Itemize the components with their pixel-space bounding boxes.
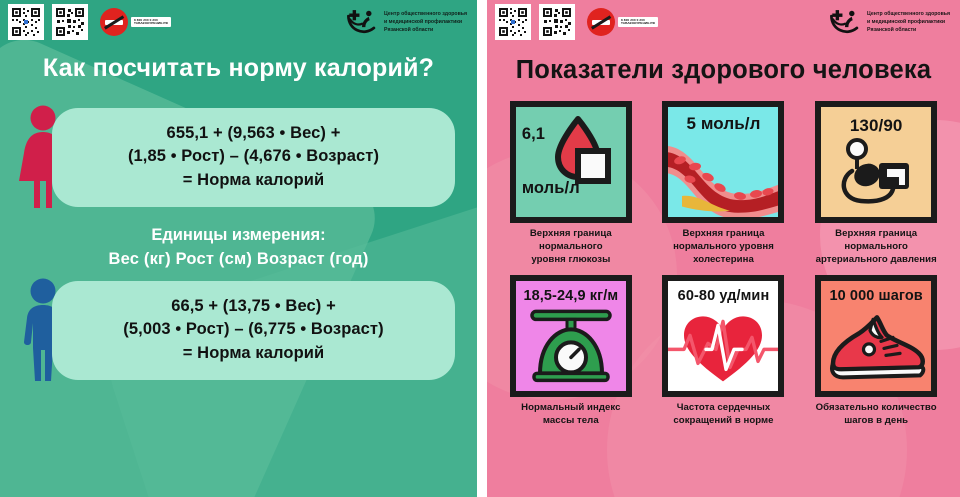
units-values: Вес (кг) Рост (см) Возраст (год) bbox=[0, 248, 477, 272]
no-smoking-badge: 8 800 200 0 200 ТАБАКОКУРЕНИЕ.РФ bbox=[100, 8, 171, 36]
panel-divider bbox=[477, 0, 487, 497]
left-panel: 8 800 200 0 200 ТАБАКОКУРЕНИЕ.РФ bbox=[0, 0, 477, 497]
bmi-tile: 18,5-24,9 кг/м bbox=[510, 275, 632, 397]
heart-rate-caption: Частота сердечных сокращений в норме bbox=[673, 402, 773, 428]
bmi-value: 18,5-24,9 кг/м bbox=[523, 281, 618, 304]
female-formula-line-3: = Норма калорий bbox=[68, 169, 439, 192]
caption-line-2: нормального bbox=[530, 241, 612, 254]
blood-pressure-value: 130/90 bbox=[850, 107, 903, 135]
caption-line-2: шагов в день bbox=[816, 415, 937, 428]
glucose-value-2: моль/л bbox=[516, 179, 626, 197]
steps-caption: Обязательно количество шагов в день bbox=[816, 402, 937, 428]
hotline-label: 8 800 200 0 200 ТАБАКОКУРЕНИЕ.РФ bbox=[131, 17, 171, 27]
hotline-label: 8 800 200 0 200 ТАБАКОКУРЕНИЕ.РФ bbox=[618, 17, 658, 27]
left-branding-bar: 8 800 200 0 200 ТАБАКОКУРЕНИЕ.РФ bbox=[0, 0, 477, 44]
heart-pulse-icon bbox=[668, 304, 778, 391]
indicator-card-cholesterol: 5 моль/л bbox=[650, 101, 797, 267]
male-formula-line-1: 66,5 + (13,75 • Вес) + bbox=[68, 295, 439, 318]
male-formula-line-2: (5,003 • Рост) – (6,775 • Возраст) bbox=[68, 318, 439, 341]
qr-code-icon[interactable] bbox=[52, 4, 88, 40]
cholesterol-caption: Верхняя граница нормального уровня холес… bbox=[673, 228, 774, 267]
glucose-value-1: 6,1 bbox=[516, 125, 626, 143]
blood-pressure-caption: Верхняя граница нормального артериальног… bbox=[816, 228, 937, 267]
right-panel: 8 800 200 0 200 ТАБАКОКУРЕНИЕ.РФ bbox=[487, 0, 960, 497]
artery-cholesterol-icon bbox=[668, 133, 778, 217]
bmi-caption: Нормальный индекс массы тела bbox=[521, 402, 620, 428]
caption-line-2: нормального bbox=[816, 241, 937, 254]
male-formula-line-3: = Норма калорий bbox=[68, 342, 439, 365]
org-line-1: Центр общественного здоровья bbox=[384, 10, 467, 18]
org-line-3: Рязанской области bbox=[384, 26, 467, 34]
steps-tile: 10 000 шагов bbox=[815, 275, 937, 397]
male-formula-card: 66,5 + (13,75 • Вес) + (5,003 • Рост) – … bbox=[52, 281, 455, 380]
heart-rate-value: 60-80 уд/мин bbox=[678, 281, 770, 304]
blood-pressure-tile: 130/90 bbox=[815, 101, 937, 223]
female-formula-card: 655,1 + (9,563 • Вес) + (1,85 • Рост) – … bbox=[52, 108, 455, 207]
caption-line-1: Частота сердечных bbox=[673, 402, 773, 415]
units-title: Единицы измерения: bbox=[0, 224, 477, 248]
right-heading: Показатели здорового человека bbox=[487, 56, 960, 85]
caption-line-2: массы тела bbox=[521, 415, 620, 428]
indicator-card-steps: 10 000 шагов Обяз bbox=[803, 275, 950, 428]
health-center-logo-icon bbox=[828, 7, 862, 37]
caption-line-1: Верхняя граница bbox=[673, 228, 774, 241]
indicator-card-bmi: 18,5-24,9 кг/м Нормальный индекс bbox=[498, 275, 645, 428]
glucose-tile: 6,1 моль/л bbox=[510, 101, 632, 223]
glucose-caption: Верхняя граница нормального уровня глюко… bbox=[530, 228, 612, 267]
heart-rate-tile: 60-80 уд/мин bbox=[662, 275, 784, 397]
health-center-logo-icon bbox=[345, 7, 379, 37]
organization-name: Центр общественного здоровья и медицинск… bbox=[867, 10, 950, 34]
caption-line-3: холестерина bbox=[673, 254, 774, 267]
sneaker-icon bbox=[821, 304, 931, 391]
caption-line-2: нормального уровня bbox=[673, 241, 774, 254]
qr-code-icon[interactable] bbox=[539, 4, 575, 40]
cholesterol-value: 5 моль/л bbox=[686, 107, 760, 133]
male-formula-row: 66,5 + (13,75 • Вес) + (5,003 • Рост) – … bbox=[0, 278, 477, 383]
weighing-scale-icon bbox=[516, 304, 626, 391]
blood-pressure-cuff-icon bbox=[821, 135, 931, 217]
organization-logo: Центр общественного здоровья и медицинск… bbox=[345, 7, 467, 37]
indicator-grid: 6,1 моль/л Верхняя граница нормального у… bbox=[498, 101, 950, 428]
blood-drop-icon bbox=[516, 107, 626, 217]
org-line-2: и медицинской профилактики bbox=[867, 18, 950, 26]
indicator-card-heart-rate: 60-80 уд/мин Частота сердечных сокращени… bbox=[650, 275, 797, 428]
indicator-card-glucose: 6,1 моль/л Верхняя граница нормального у… bbox=[498, 101, 645, 267]
left-heading: Как посчитать норму калорий? bbox=[0, 54, 477, 83]
org-line-1: Центр общественного здоровья bbox=[867, 10, 950, 18]
org-line-2: и медицинской профилактики bbox=[384, 18, 467, 26]
caption-line-1: Верхняя граница bbox=[816, 228, 937, 241]
org-line-3: Рязанской области bbox=[867, 26, 950, 34]
hotline-site: ТАБАКОКУРЕНИЕ.РФ bbox=[621, 22, 655, 25]
no-smoking-icon bbox=[587, 8, 615, 36]
caption-line-2: сокращений в норме bbox=[673, 415, 773, 428]
no-smoking-badge: 8 800 200 0 200 ТАБАКОКУРЕНИЕ.РФ bbox=[587, 8, 658, 36]
qr-code-icon[interactable] bbox=[495, 4, 531, 40]
caption-line-1: Обязательно количество bbox=[816, 402, 937, 415]
hotline-site: ТАБАКОКУРЕНИЕ.РФ bbox=[134, 22, 168, 25]
female-formula-line-2: (1,85 • Рост) – (4,676 • Возраст) bbox=[68, 145, 439, 168]
no-smoking-icon bbox=[100, 8, 128, 36]
organization-logo: Центр общественного здоровья и медицинск… bbox=[828, 7, 950, 37]
female-formula-line-1: 655,1 + (9,563 • Вес) + bbox=[68, 122, 439, 145]
caption-line-1: Верхняя граница bbox=[530, 228, 612, 241]
organization-name: Центр общественного здоровья и медицинск… bbox=[384, 10, 467, 34]
cholesterol-tile: 5 моль/л bbox=[662, 101, 784, 223]
caption-line-3: артериального давления bbox=[816, 254, 937, 267]
caption-line-1: Нормальный индекс bbox=[521, 402, 620, 415]
indicator-card-blood-pressure: 130/90 Верхняя граница н bbox=[803, 101, 950, 267]
right-branding-bar: 8 800 200 0 200 ТАБАКОКУРЕНИЕ.РФ bbox=[487, 0, 960, 44]
units-block: Единицы измерения: Вес (кг) Рост (см) Во… bbox=[0, 224, 477, 272]
qr-code-icon[interactable] bbox=[8, 4, 44, 40]
steps-value: 10 000 шагов bbox=[829, 281, 922, 304]
infographic-poster: 8 800 200 0 200 ТАБАКОКУРЕНИЕ.РФ bbox=[0, 0, 960, 497]
female-formula-row: 655,1 + (9,563 • Вес) + (1,85 • Рост) – … bbox=[0, 105, 477, 210]
caption-line-3: уровня глюкозы bbox=[530, 254, 612, 267]
